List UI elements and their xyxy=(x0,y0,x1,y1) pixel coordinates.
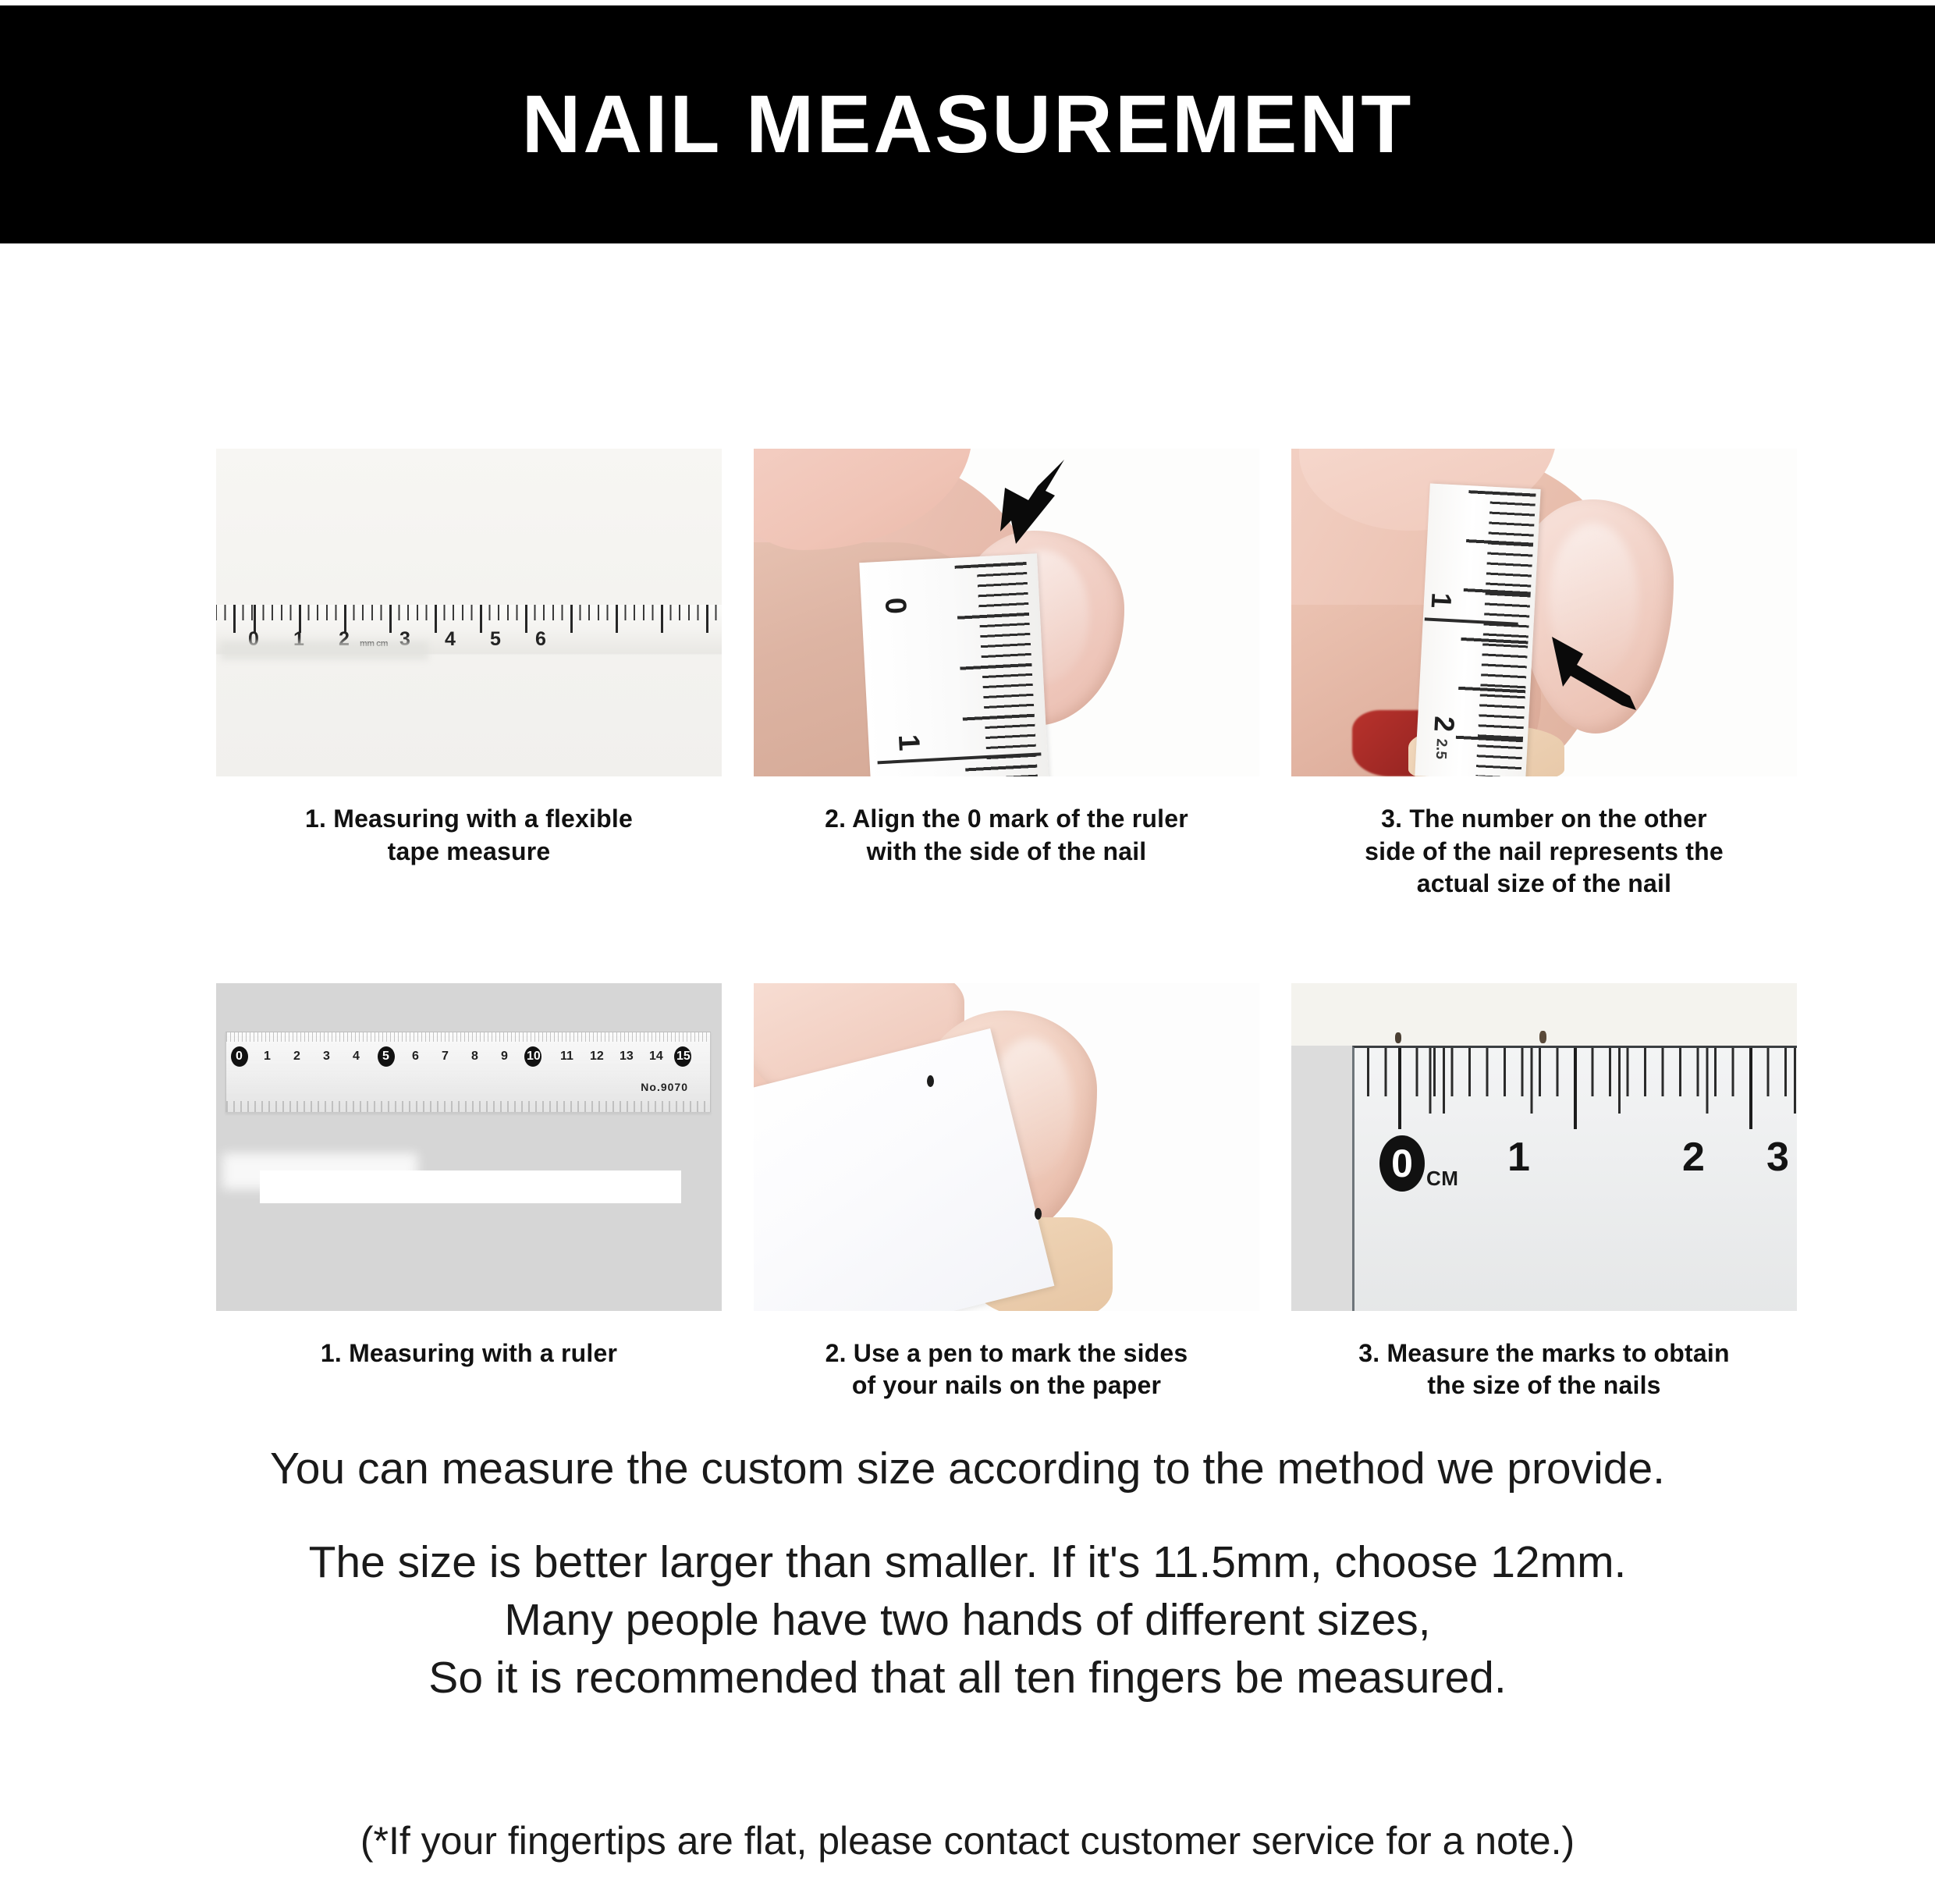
caption-panel-5-line-2: of your nails on the paper xyxy=(754,1369,1259,1402)
tape-number-4: 4 xyxy=(445,628,456,651)
pen-mark-right xyxy=(1539,1031,1546,1043)
tape-measure-wrapped: 0 1 xyxy=(859,553,1053,776)
ruler-closeup-body: 0 CM 1 2 3 xyxy=(1352,1046,1797,1311)
ruler-number-14: 14 xyxy=(649,1050,663,1064)
caption-panel-2-line-1: 2. Align the 0 mark of the ruler xyxy=(754,803,1259,836)
tape-number-0: 0 xyxy=(878,597,912,615)
panel-align-zero-mark: 0 1 2. Align the 0 mark of the ruler wit… xyxy=(754,449,1259,900)
row-spacer xyxy=(216,900,1797,983)
header-bar: NAIL MEASUREMENT xyxy=(0,5,1935,243)
ruler-number-2: 2 xyxy=(1682,1134,1705,1181)
panel-measure-the-marks: 0 CM 1 2 3 3. Measure the marks to obtai… xyxy=(1291,983,1797,1402)
caption-panel-1: 1. Measuring with a flexible tape measur… xyxy=(216,803,722,868)
pen-mark-left xyxy=(1395,1032,1401,1043)
caption-panel-2: 2. Align the 0 mark of the ruler with th… xyxy=(754,803,1259,868)
ruler-major-ticks xyxy=(1354,1048,1797,1129)
photo-plastic-ruler: 0 1 2 3 4 5 6 7 8 9 10 11 12 xyxy=(216,983,722,1311)
caption-panel-2-line-2: with the side of the nail xyxy=(754,836,1259,869)
ruler-number-7: 7 xyxy=(442,1050,449,1064)
ruler-number-12: 12 xyxy=(590,1050,604,1064)
paper-strip xyxy=(260,1170,681,1203)
ruler-number-15: 15 xyxy=(676,1050,691,1064)
caption-panel-6: 3. Measure the marks to obtain the size … xyxy=(1291,1337,1797,1402)
ruler-number-9: 9 xyxy=(501,1050,508,1064)
instruction-row-1: 0 1 2 mm cm 3 4 5 6 1. Measuring with a … xyxy=(216,449,1797,900)
ruler-number-5: 5 xyxy=(382,1050,389,1064)
caption-panel-1-line-1: 1. Measuring with a flexible xyxy=(216,803,722,836)
ruler-number-2: 2 xyxy=(293,1050,300,1064)
ruler-top-ticks xyxy=(226,1032,710,1042)
caption-panel-4: 1. Measuring with a ruler xyxy=(216,1337,722,1370)
photo-align-zero-on-nail: 0 1 xyxy=(754,449,1259,776)
ruler-zero-badge: 0 xyxy=(1379,1135,1425,1192)
photo-pen-marks-on-paper xyxy=(754,983,1259,1311)
ruler-number-0: 0 xyxy=(1391,1144,1413,1183)
photo-flexible-tape-measure: 0 1 2 mm cm 3 4 5 6 xyxy=(216,449,722,776)
ruler-number-1: 1 xyxy=(1507,1134,1530,1181)
ruler-number-3: 3 xyxy=(323,1050,330,1064)
tape-sub-label: 2.5 xyxy=(1432,738,1450,760)
tape-major-ticks xyxy=(1454,490,1536,776)
paper-edge-blur xyxy=(221,641,428,660)
caption-panel-5: 2. Use a pen to mark the sides of your n… xyxy=(754,1337,1259,1402)
photo-read-number-other-side: 1 2 2.5 xyxy=(1291,449,1797,776)
ruler-number-6: 6 xyxy=(412,1050,419,1064)
tape-number-1: 1 xyxy=(891,734,925,751)
up-left-arrow-icon xyxy=(1549,632,1642,718)
ruler-number-0: 0 xyxy=(236,1050,243,1064)
paragraph-spacer xyxy=(0,1497,1935,1533)
body-line-1: You can measure the custom size accordin… xyxy=(0,1440,1935,1497)
instruction-panel-grid: 0 1 2 mm cm 3 4 5 6 1. Measuring with a … xyxy=(216,449,1797,1402)
tape-number-2: 2 xyxy=(1427,716,1461,733)
ruler-number-13: 13 xyxy=(620,1050,634,1064)
caption-panel-4-line-1: 1. Measuring with a ruler xyxy=(216,1337,722,1370)
pen-mark-right xyxy=(1035,1208,1042,1220)
ruler-number-row: 0 1 2 3 4 5 6 7 8 9 10 11 12 xyxy=(226,1050,710,1073)
tape-number-5: 5 xyxy=(490,628,501,651)
body-line-4: So it is recommended that all ten finger… xyxy=(0,1649,1935,1707)
page-title: NAIL MEASUREMENT xyxy=(522,83,1414,165)
ruler-number-10: 10 xyxy=(527,1050,541,1064)
tape-number-1: 1 xyxy=(1425,591,1458,609)
plastic-ruler: 0 1 2 3 4 5 6 7 8 9 10 11 12 xyxy=(225,1032,711,1113)
footnote: (*If your fingertips are flat, please co… xyxy=(0,1818,1935,1863)
caption-panel-5-line-1: 2. Use a pen to mark the sides xyxy=(754,1337,1259,1370)
photo-ruler-closeup: 0 CM 1 2 3 xyxy=(1291,983,1797,1311)
body-line-2: The size is better larger than smaller. … xyxy=(0,1533,1935,1591)
ruler-number-3: 3 xyxy=(1766,1134,1789,1181)
panel-read-other-side: 1 2 2.5 3. The number on the other side … xyxy=(1291,449,1797,900)
caption-panel-3: 3. The number on the other side of the n… xyxy=(1291,803,1797,900)
ruler-bottom-ticks xyxy=(226,1101,710,1112)
down-left-arrow-icon xyxy=(988,456,1074,550)
tape-number-6: 6 xyxy=(535,628,546,651)
instruction-row-2: 0 1 2 3 4 5 6 7 8 9 10 11 12 xyxy=(216,983,1797,1402)
ruler-number-11: 11 xyxy=(560,1050,573,1064)
panel-mark-nail-sides: 2. Use a pen to mark the sides of your n… xyxy=(754,983,1259,1402)
ruler-number-8: 8 xyxy=(471,1050,478,1064)
ruler-number-4: 4 xyxy=(353,1050,360,1064)
ruler-brand-label: No.9070 xyxy=(641,1081,688,1093)
caption-panel-6-line-2: the size of the nails xyxy=(1291,1369,1797,1402)
ruler-unit-label: CM xyxy=(1426,1167,1458,1191)
caption-panel-6-line-1: 3. Measure the marks to obtain xyxy=(1291,1337,1797,1370)
tape-major-ticks xyxy=(955,562,1042,776)
caption-panel-3-line-2: side of the nail represents the xyxy=(1291,836,1797,869)
ruler-number-1: 1 xyxy=(264,1050,271,1064)
panel-tape-measure-overview: 0 1 2 mm cm 3 4 5 6 1. Measuring with a … xyxy=(216,449,722,900)
tape-measure-wrapped: 1 2 2.5 xyxy=(1415,484,1540,776)
body-line-3: Many people have two hands of different … xyxy=(0,1591,1935,1649)
panel-ruler-overview: 0 1 2 3 4 5 6 7 8 9 10 11 12 xyxy=(216,983,722,1402)
caption-panel-3-line-3: actual size of the nail xyxy=(1291,868,1797,900)
pen-mark-left xyxy=(927,1075,934,1087)
body-copy: You can measure the custom size accordin… xyxy=(0,1440,1935,1707)
caption-panel-1-line-2: tape measure xyxy=(216,836,722,869)
caption-panel-3-line-1: 3. The number on the other xyxy=(1291,803,1797,836)
